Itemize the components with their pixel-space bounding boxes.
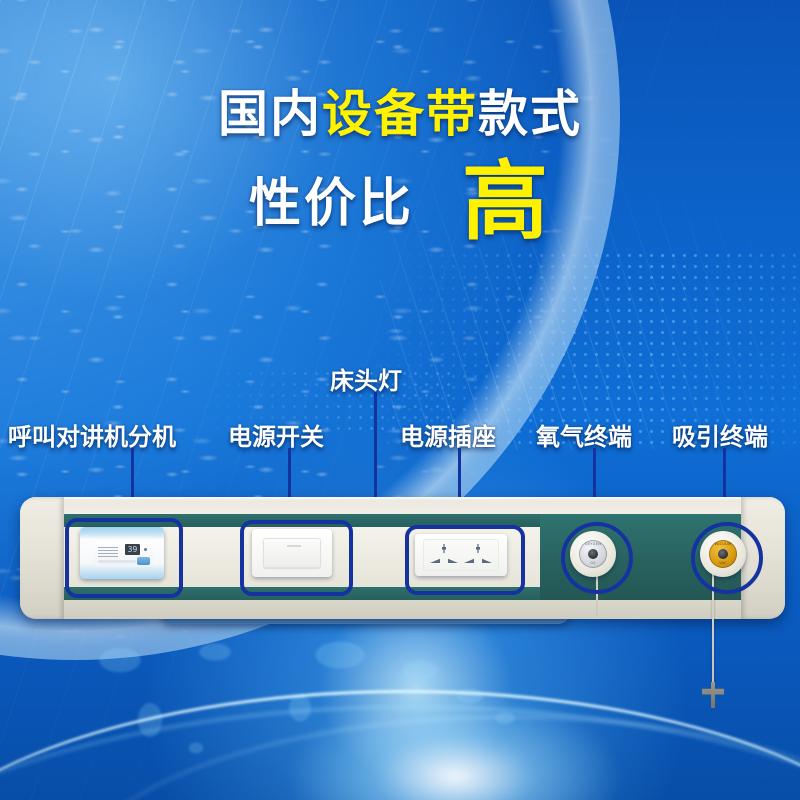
product-banner: 国内设备带款式 性价比高 呼叫对讲机分机 电源开关 床头灯 电源插座 氧气终端 …	[0, 0, 800, 800]
highlight-circle-oxygen	[561, 522, 633, 594]
highlight-box-power-switch	[240, 520, 353, 596]
highlight-box-socket	[405, 525, 525, 595]
horizon-glow	[290, 690, 620, 800]
headline-part-style: 款式	[478, 85, 582, 143]
headline-value-phrase: 性价比	[249, 174, 414, 234]
headline-high-emphasis: 高	[462, 152, 551, 252]
headline-part-equipment-belt: 设备带	[322, 85, 478, 143]
headline-part-domestic: 国内	[218, 85, 322, 143]
headline-block: 国内设备带款式 性价比高	[0, 86, 800, 250]
panel-end-cap-left	[20, 497, 64, 619]
callout-label-oxygen: 氧气终端	[536, 417, 632, 452]
headline-line-2: 性价比高	[0, 154, 800, 250]
callout-label-power-switch: 电源开关	[228, 417, 324, 452]
highlight-circle-suction	[691, 522, 763, 594]
callout-label-socket: 电源插座	[400, 417, 496, 452]
callout-label-intercom: 呼叫对讲机分机	[8, 417, 176, 452]
highlight-box-intercom	[65, 518, 183, 598]
headline-line-1: 国内设备带款式	[0, 86, 800, 142]
callout-label-bed-lamp: 床头灯	[330, 361, 402, 396]
callout-label-suction: 吸引终端	[672, 417, 768, 452]
